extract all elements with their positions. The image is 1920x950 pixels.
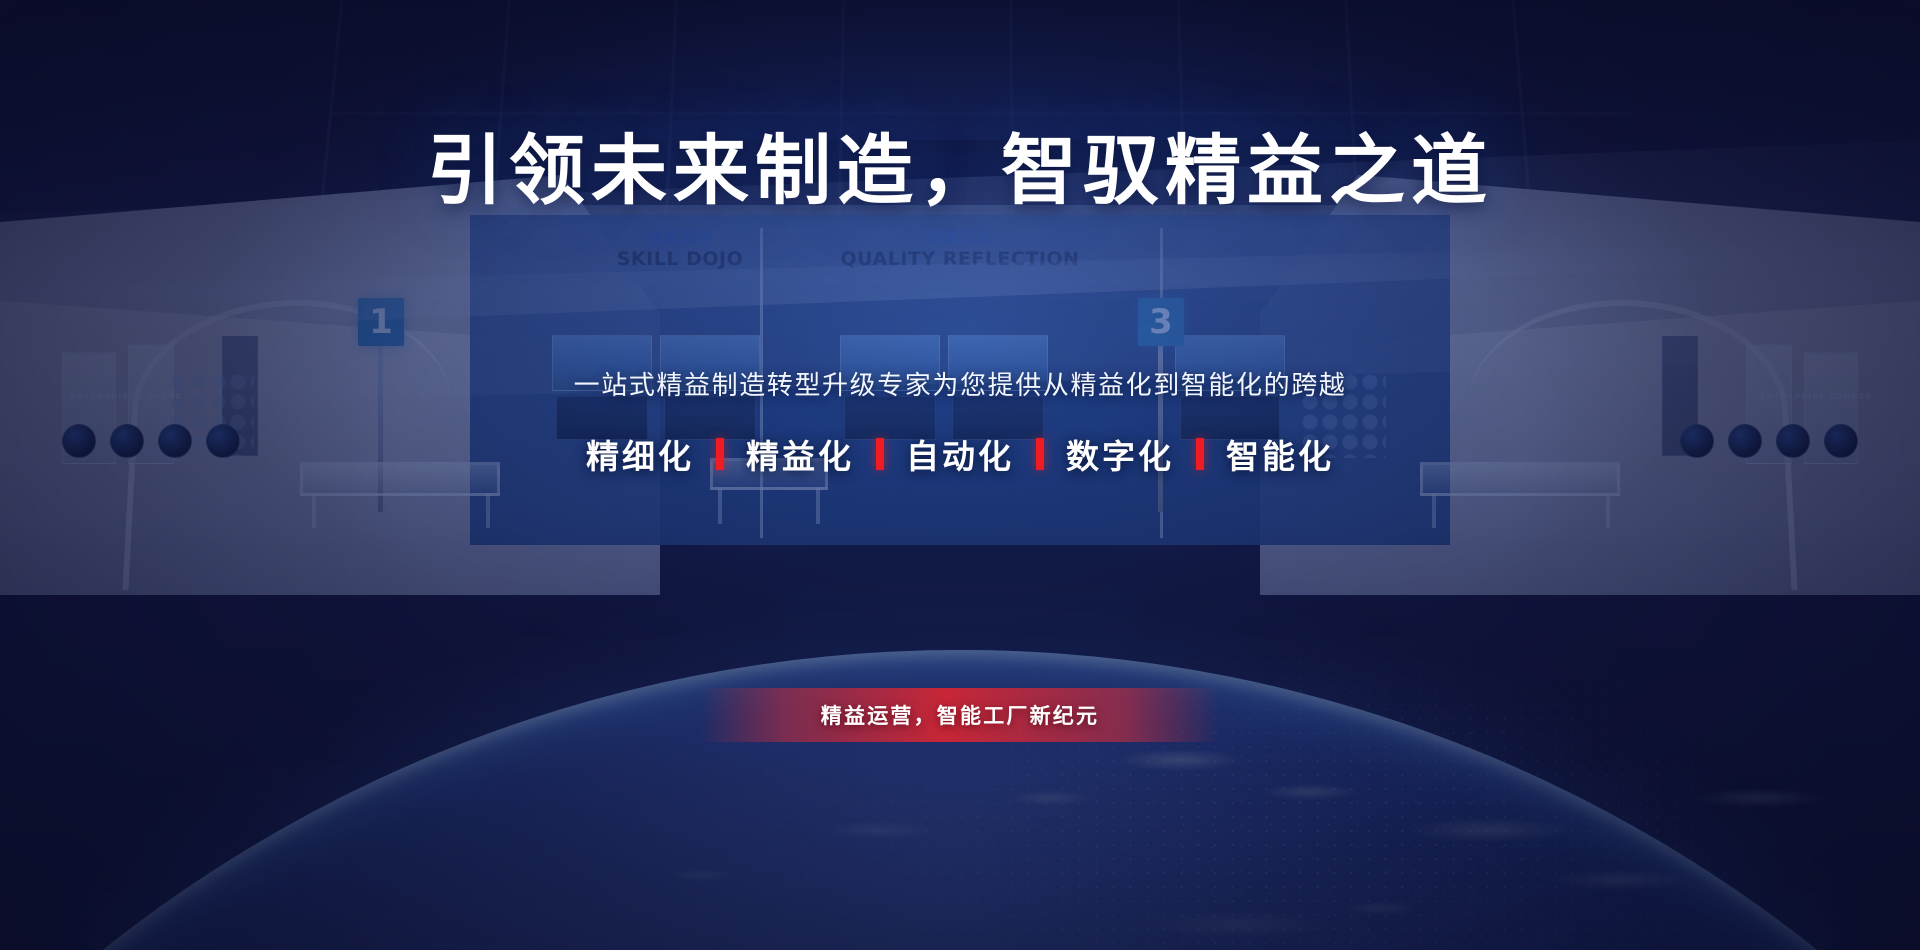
keyword-item: 自动化 bbox=[884, 430, 1036, 478]
keyword-separator-icon bbox=[1196, 438, 1204, 470]
keyword-separator-icon bbox=[876, 438, 884, 470]
keyword-list: 精细化 精益化 自动化 数字化 智能化 bbox=[0, 430, 1920, 478]
banner-content: 引领未来制造，智驭精益之道 一站式精益制造转型升级专家为您提供从精益化到智能化的… bbox=[0, 0, 1920, 950]
keyword-item: 智能化 bbox=[1204, 430, 1356, 478]
page-subtitle: 一站式精益制造转型升级专家为您提供从精益化到智能化的跨越 bbox=[0, 365, 1920, 402]
tagline-badge-text: 精益运营，智能工厂新纪元 bbox=[821, 700, 1099, 730]
page-title: 引领未来制造，智驭精益之道 bbox=[0, 133, 1920, 209]
keyword-separator-icon bbox=[716, 438, 724, 470]
hero-banner: 技能道场 SKILL DOJO 质量反省 QUALITY REFLECTION … bbox=[0, 0, 1920, 950]
tagline-badge: 精益运营，智能工厂新纪元 bbox=[700, 688, 1220, 742]
keyword-separator-icon bbox=[1036, 438, 1044, 470]
keyword-item: 精细化 bbox=[564, 430, 716, 478]
keyword-item: 精益化 bbox=[724, 430, 876, 478]
keyword-item: 数字化 bbox=[1044, 430, 1196, 478]
